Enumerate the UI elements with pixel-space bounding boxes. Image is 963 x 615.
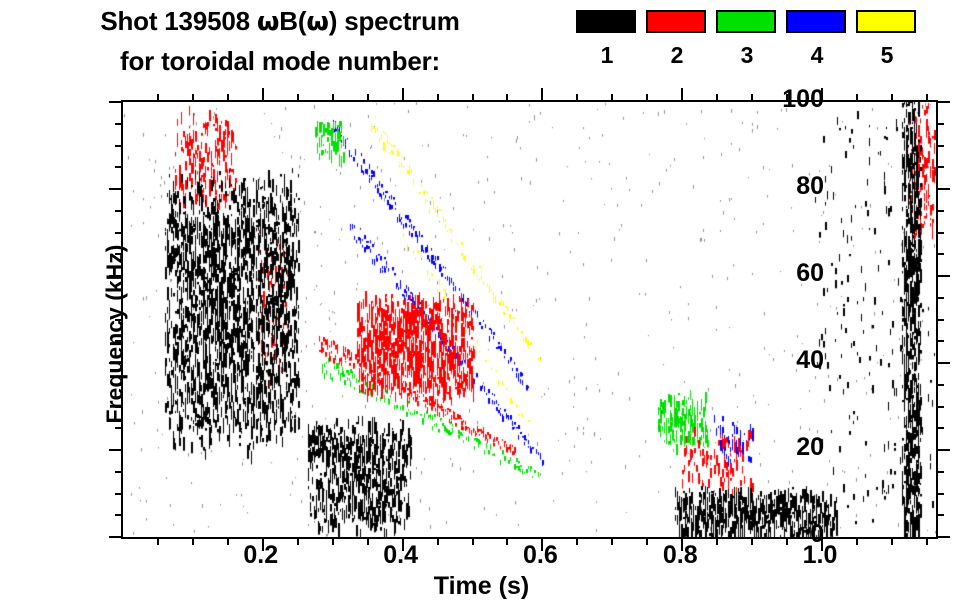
legend-swatch-2 xyxy=(646,10,706,33)
y-tick-major-right-60 xyxy=(936,275,950,277)
x-tick-minor-0.5 xyxy=(472,537,474,545)
legend-label-3: 3 xyxy=(716,42,778,69)
legend-swatch-4 xyxy=(786,10,846,33)
y-tick-label-80: 80 xyxy=(754,172,824,201)
y-tick-minor-right-5 xyxy=(936,514,944,516)
legend-label-5: 5 xyxy=(856,42,918,69)
spectrogram-canvas xyxy=(123,102,936,537)
legend-label-4: 4 xyxy=(786,42,848,69)
y-tick-minor-75 xyxy=(115,210,123,212)
y-tick-major-right-20 xyxy=(936,449,950,451)
y-tick-major-0 xyxy=(109,536,123,538)
x-tick-major-top-0.8 xyxy=(681,88,683,102)
y-tick-minor-right-25 xyxy=(936,427,944,429)
y-axis-title: Frequency (kHz) xyxy=(102,245,129,424)
y-tick-minor-right-35 xyxy=(936,384,944,386)
x-tick-minor-top-0.75 xyxy=(646,94,648,102)
x-tick-minor-top-1.05 xyxy=(856,94,858,102)
y-tick-minor-right-45 xyxy=(936,340,944,342)
x-tick-minor-1.1 xyxy=(891,537,893,545)
x-tick-minor-top-0.9 xyxy=(751,94,753,102)
page-subtitle: for toroidal mode number: xyxy=(0,46,560,77)
legend-entry-mode-n2: 2 xyxy=(646,10,708,69)
x-tick-minor-top-0.5 xyxy=(472,94,474,102)
legend-entry-mode-n4: 4 xyxy=(786,10,848,69)
x-tick-label-0.4: 0.4 xyxy=(356,541,446,570)
y-tick-major-right-40 xyxy=(936,362,950,364)
x-tick-minor-top-0.25 xyxy=(297,94,299,102)
chart-title-block: Shot 139508 ωB(ω) spectrum for toroidal … xyxy=(0,0,560,92)
y-tick-minor-right-90 xyxy=(936,145,944,147)
legend: 12345 xyxy=(576,10,963,90)
page-title: Shot 139508 ωB(ω) spectrum xyxy=(0,6,560,37)
title-mid: B( xyxy=(279,6,306,36)
x-tick-minor-top-0.1 xyxy=(192,94,194,102)
x-tick-minor-top-0.85 xyxy=(716,94,718,102)
y-tick-minor-5 xyxy=(115,514,123,516)
x-tick-minor-top-0.3 xyxy=(332,94,334,102)
x-tick-major-top-0.2 xyxy=(262,88,264,102)
y-tick-minor-10 xyxy=(115,493,123,495)
y-tick-minor-90 xyxy=(115,145,123,147)
legend-entry-mode-n5: 5 xyxy=(856,10,918,69)
omega-symbol-2: ω xyxy=(306,7,328,37)
x-tick-major-top-0.4 xyxy=(402,88,404,102)
legend-entry-mode-n3: 3 xyxy=(716,10,778,69)
y-tick-major-right-100 xyxy=(936,101,950,103)
y-tick-label-60: 60 xyxy=(754,259,824,288)
x-tick-minor-top-0.65 xyxy=(576,94,578,102)
omega-symbol-1: ω xyxy=(257,7,279,37)
y-tick-minor-right-15 xyxy=(936,471,944,473)
y-tick-minor-15 xyxy=(115,471,123,473)
y-tick-major-80 xyxy=(109,188,123,190)
y-tick-minor-right-30 xyxy=(936,406,944,408)
x-tick-minor-top-0.05 xyxy=(157,94,159,102)
x-tick-label-0.2: 0.2 xyxy=(216,541,306,570)
x-tick-minor-0.9 xyxy=(751,537,753,545)
x-tick-minor-0.1 xyxy=(192,537,194,545)
y-tick-minor-right-50 xyxy=(936,319,944,321)
x-tick-minor-top-0.55 xyxy=(506,94,508,102)
plot-frame: Frequency (kHz) xyxy=(121,100,938,539)
y-tick-major-20 xyxy=(109,449,123,451)
x-tick-label-1.0: 1.0 xyxy=(775,541,865,570)
y-tick-label-100: 100 xyxy=(754,85,824,114)
x-tick-minor-top-0.15 xyxy=(227,94,229,102)
x-tick-major-top-0.6 xyxy=(541,88,543,102)
y-tick-label-40: 40 xyxy=(754,346,824,375)
y-tick-minor-25 xyxy=(115,427,123,429)
x-tick-minor-0.3 xyxy=(332,537,334,545)
x-tick-minor-top-0.35 xyxy=(367,94,369,102)
x-tick-minor-top-0.7 xyxy=(611,94,613,102)
y-tick-label-20: 20 xyxy=(754,433,824,462)
y-tick-minor-95 xyxy=(115,123,123,125)
legend-entry-mode-n1: 1 xyxy=(576,10,638,69)
legend-swatch-3 xyxy=(716,10,776,33)
title-suffix: ) spectrum xyxy=(329,6,460,36)
x-axis-title: Time (s) xyxy=(0,572,963,601)
y-tick-minor-right-70 xyxy=(936,232,944,234)
y-tick-minor-right-55 xyxy=(936,297,944,299)
y-tick-minor-70 xyxy=(115,232,123,234)
x-tick-minor-0.05 xyxy=(157,537,159,545)
y-tick-major-right-80 xyxy=(936,188,950,190)
y-tick-minor-right-65 xyxy=(936,253,944,255)
x-tick-minor-1.15 xyxy=(926,537,928,545)
x-tick-minor-top-1.1 xyxy=(891,94,893,102)
y-tick-minor-right-85 xyxy=(936,166,944,168)
title-prefix: Shot 139508 xyxy=(100,6,257,36)
y-tick-minor-85 xyxy=(115,166,123,168)
legend-label-1: 1 xyxy=(576,42,638,69)
y-tick-minor-right-95 xyxy=(936,123,944,125)
legend-swatch-1 xyxy=(576,10,636,33)
x-tick-minor-top-1.15 xyxy=(926,94,928,102)
y-tick-major-100 xyxy=(109,101,123,103)
x-tick-label-0.6: 0.6 xyxy=(495,541,585,570)
y-tick-minor-right-10 xyxy=(936,493,944,495)
legend-swatch-5 xyxy=(856,10,916,33)
x-tick-minor-0.7 xyxy=(611,537,613,545)
x-tick-label-0.8: 0.8 xyxy=(635,541,725,570)
y-tick-minor-right-75 xyxy=(936,210,944,212)
y-tick-major-right-0 xyxy=(936,536,950,538)
x-tick-minor-top-0.45 xyxy=(437,94,439,102)
legend-label-2: 2 xyxy=(646,42,708,69)
